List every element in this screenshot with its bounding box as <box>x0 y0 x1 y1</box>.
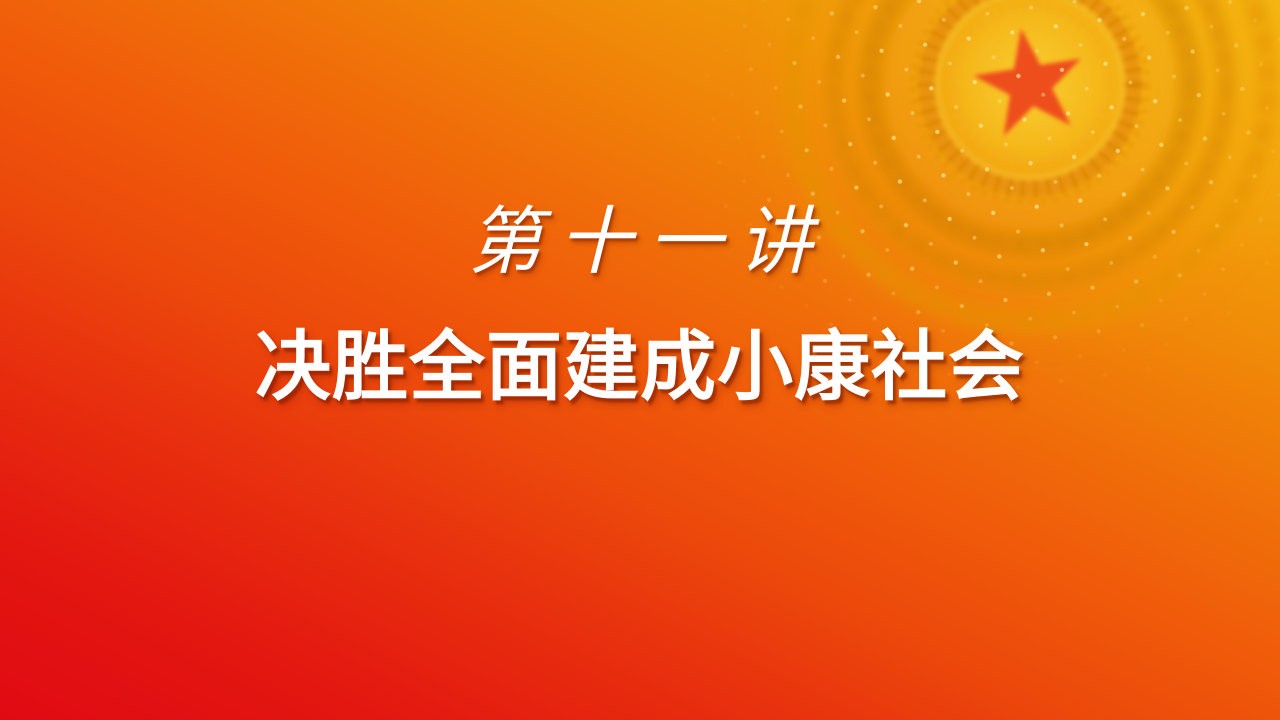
page-subtitle: 决胜全面建成小康社会 <box>0 320 1280 416</box>
page-title: 第十一讲 <box>0 198 1280 288</box>
title-slide: 第十一讲 决胜全面建成小康社会 <box>0 0 1280 720</box>
slide-text-block: 第十一讲 决胜全面建成小康社会 <box>0 0 1280 720</box>
